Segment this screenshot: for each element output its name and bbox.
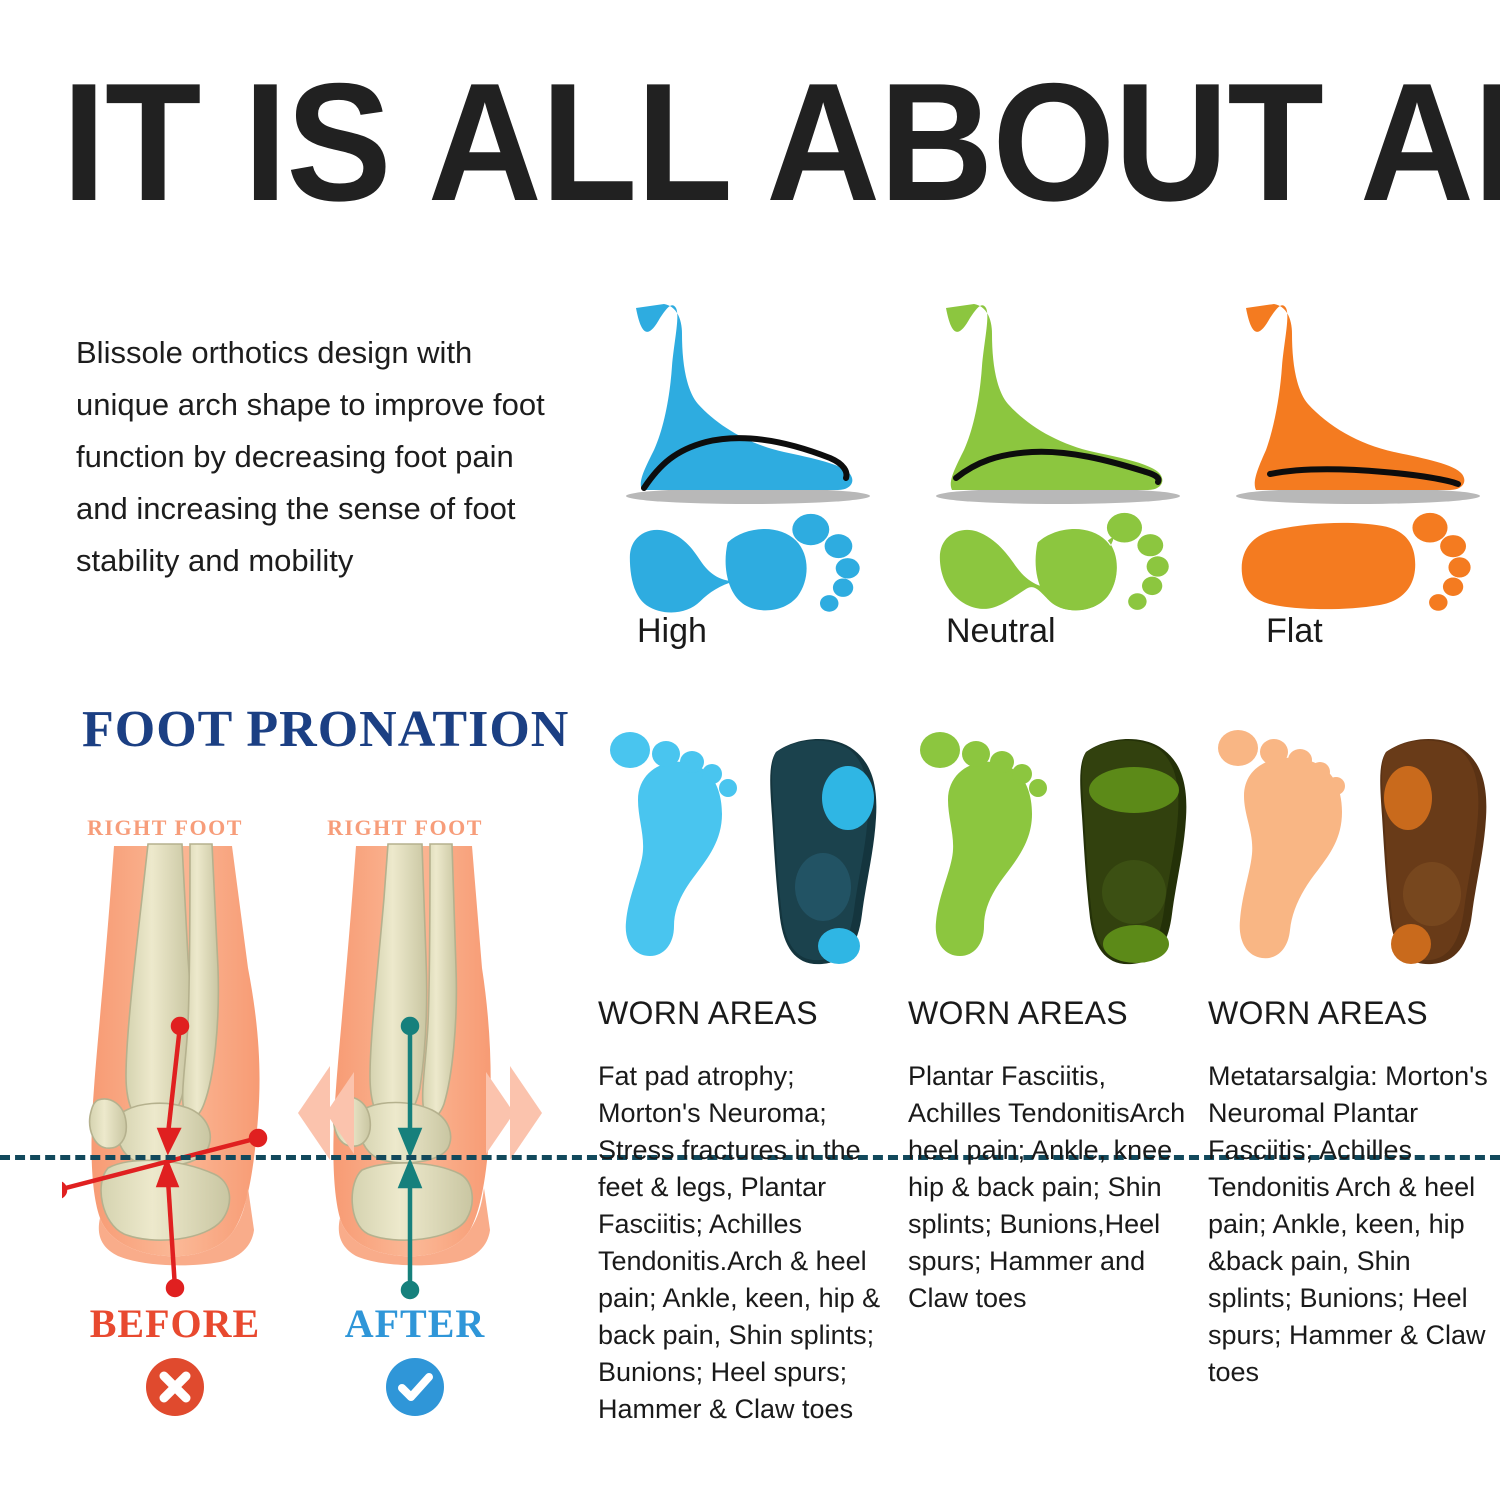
worn-areas-body-1: Fat pad atrophy; Morton's Neuroma; Stres… <box>598 1058 883 1428</box>
after-label: AFTER <box>300 1300 530 1347</box>
arch-type-neutral <box>908 300 1208 660</box>
worn-areas-heading-2: WORN AREAS <box>908 995 1128 1032</box>
worn-insole-green-icon <box>908 722 1208 977</box>
footprint-flat-icon <box>1208 500 1500 620</box>
intro-paragraph: Blissole orthotics design with unique ar… <box>76 327 546 587</box>
foot-side-view-high-icon <box>598 300 898 510</box>
worn-insole-blue-icon <box>598 722 898 977</box>
worn-insole-brown-icon <box>1208 722 1500 977</box>
chevron-left-pressure-icon <box>286 1058 356 1168</box>
chevron-right-pressure-icon <box>484 1058 554 1168</box>
arch-label-flat: Flat <box>1266 612 1323 651</box>
arch-label-neutral: Neutral <box>946 612 1056 651</box>
x-circle-icon <box>146 1358 204 1416</box>
arch-type-high <box>598 300 898 660</box>
footprint-high-icon <box>598 500 898 620</box>
foot-side-view-flat-icon <box>1208 300 1500 510</box>
worn-areas-body-3: Metatarsalgia: Morton's Neuromal Plantar… <box>1208 1058 1493 1391</box>
worn-areas-heading-1: WORN AREAS <box>598 995 818 1032</box>
before-label: BEFORE <box>60 1300 290 1347</box>
arch-type-flat <box>1208 300 1500 660</box>
check-circle-icon <box>386 1358 444 1416</box>
arch-label-high: High <box>637 612 707 651</box>
foot-pronation-heading: FOOT PRONATION <box>82 700 569 759</box>
worn-areas-body-2: Plantar Fasciitis, Achilles TendonitisAr… <box>908 1058 1193 1317</box>
footprint-neutral-icon <box>908 500 1208 620</box>
foot-side-view-neutral-icon <box>908 300 1208 510</box>
ankle-diagram-before <box>62 838 312 1308</box>
page-title: IT IS ALL ABOUT ARCH <box>62 62 1369 222</box>
worn-areas-heading-3: WORN AREAS <box>1208 995 1428 1032</box>
